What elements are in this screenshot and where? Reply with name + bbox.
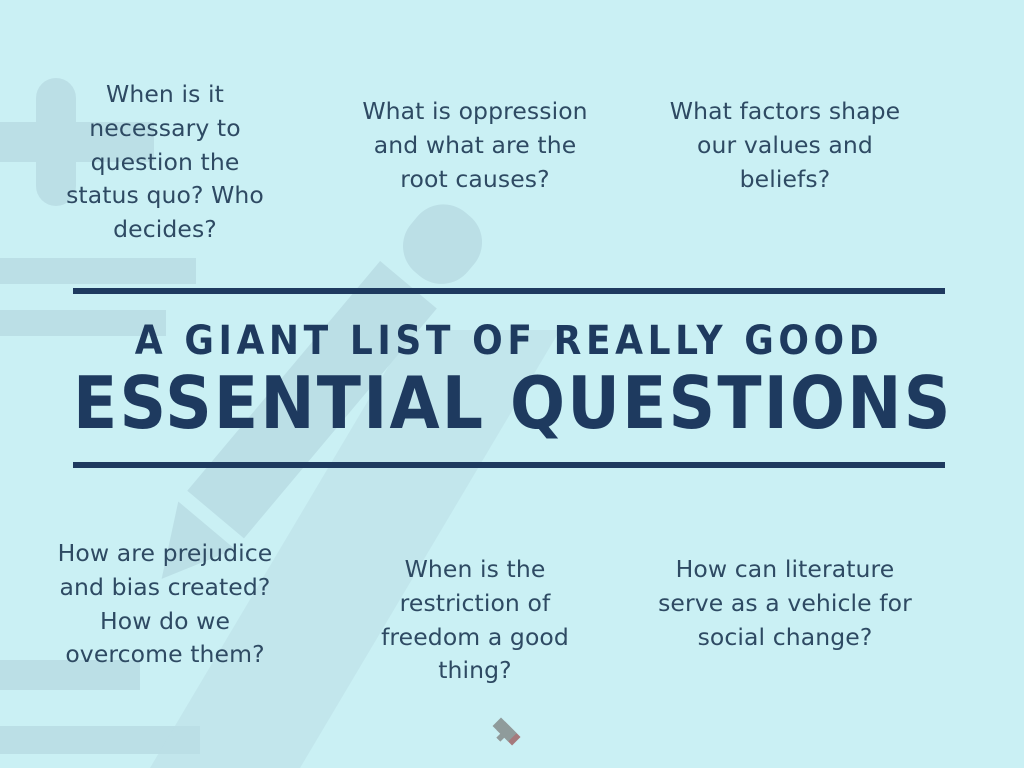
question-top-2: What is oppression and what are the root…: [330, 95, 620, 196]
question-bottom-2: When is the restriction of freedom a goo…: [330, 553, 620, 688]
question-top-1: When is it necessary to question the sta…: [0, 78, 330, 247]
logo-gray-shape: [489, 717, 521, 749]
question-top-3: What factors shape our values and belief…: [620, 95, 950, 196]
question-row-top: When is it necessary to question the sta…: [0, 78, 1024, 247]
title-rule-bottom: [73, 462, 945, 468]
page-title-line-2: Essential Questions: [73, 367, 945, 462]
title-block: A Giant List of Really Good Essential Qu…: [73, 288, 945, 468]
question-row-bottom: How are prejudice and bias created? How …: [0, 537, 1024, 688]
interlocking-diamond-logo-icon: [478, 714, 524, 760]
question-bottom-3: How can literature serve as a vehicle fo…: [620, 553, 950, 654]
poster-stage: When is it necessary to question the sta…: [0, 0, 1024, 768]
question-bottom-1: How are prejudice and bias created? How …: [0, 537, 330, 672]
page-title-line-1: A Giant List of Really Good: [73, 294, 945, 367]
